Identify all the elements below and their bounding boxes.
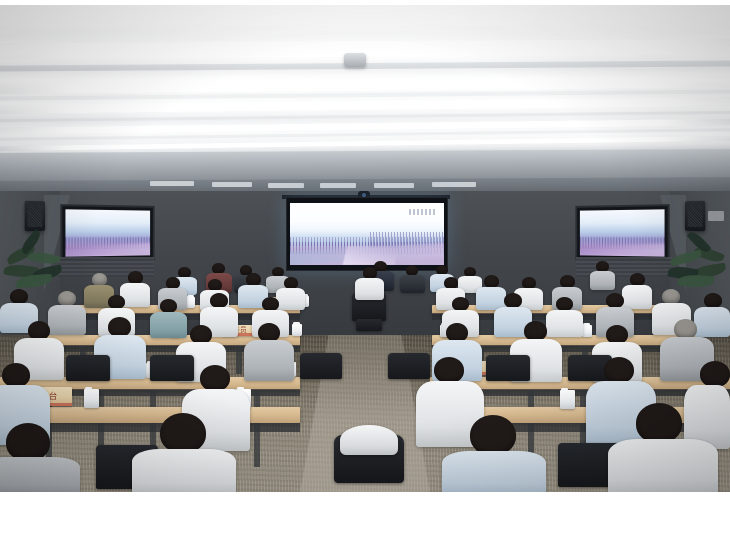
attendee-head xyxy=(108,317,131,337)
chair-cushion xyxy=(340,425,398,455)
right-display-content xyxy=(580,209,665,256)
attendee-head xyxy=(58,291,76,306)
chair xyxy=(300,353,342,379)
attendee-head xyxy=(604,357,634,383)
conference-room-photo: 委员 xyxy=(0,5,730,492)
ceiling-slot xyxy=(320,183,356,188)
attendee-head xyxy=(10,289,28,304)
attendee-body xyxy=(0,457,80,492)
right-potted-plant xyxy=(662,223,728,289)
chair xyxy=(66,355,110,381)
attendee-head xyxy=(108,295,125,309)
ceiling-slot xyxy=(374,183,414,188)
attendee-body xyxy=(132,449,236,492)
attendee-head xyxy=(700,361,730,387)
tea-cup xyxy=(186,297,195,308)
attendee-body xyxy=(276,288,305,310)
attendee-head xyxy=(200,365,230,391)
left-display-content xyxy=(65,209,150,256)
tea-cup xyxy=(292,324,302,336)
left-potted-plant xyxy=(2,223,68,289)
attendee-head xyxy=(210,293,228,308)
ceiling-slot xyxy=(150,181,194,186)
tea-cup xyxy=(84,389,99,408)
ceiling-slot xyxy=(268,183,304,188)
attendee-body xyxy=(442,451,546,492)
right-led-display[interactable] xyxy=(575,204,669,262)
attendee-head xyxy=(636,403,682,443)
attendee-body xyxy=(590,271,615,290)
presenter-chair-base xyxy=(356,319,382,331)
attendee-head xyxy=(6,423,50,461)
attendee-head xyxy=(606,293,624,308)
chair xyxy=(486,355,530,381)
attendee-body xyxy=(694,307,730,337)
attendee-body xyxy=(622,285,652,309)
attendee-head xyxy=(662,289,680,304)
screen-logo xyxy=(409,209,437,215)
attendee-head xyxy=(160,413,206,453)
attendee-head xyxy=(262,297,279,311)
attendee-head xyxy=(452,297,469,311)
attendee-body xyxy=(48,305,86,335)
attendee-body xyxy=(400,275,425,293)
screenshot-root: 委员 xyxy=(0,0,730,548)
attendee-head xyxy=(434,357,464,383)
attendee-head xyxy=(470,415,516,455)
attendee-body xyxy=(150,312,187,338)
attendee-body xyxy=(546,310,583,337)
attendee-head xyxy=(704,293,722,308)
attendee-body xyxy=(244,340,294,381)
attendee-head xyxy=(504,293,522,308)
main-display-content xyxy=(290,203,444,265)
chair xyxy=(150,355,194,381)
attendee-head xyxy=(674,319,697,339)
tea-cup xyxy=(582,325,592,337)
wall-sign xyxy=(708,211,724,221)
ceiling-slot xyxy=(212,182,252,187)
ceiling-slot xyxy=(432,182,476,187)
tea-cup xyxy=(560,390,575,409)
attendee-body xyxy=(608,439,718,492)
attendee-head xyxy=(556,297,573,311)
presenter-body xyxy=(355,278,384,300)
smoke-detector-icon xyxy=(344,53,366,67)
road-band xyxy=(343,246,400,265)
left-led-display[interactable] xyxy=(60,204,154,262)
chair xyxy=(388,353,430,379)
attendee-head xyxy=(2,363,30,387)
main-led-wall[interactable] xyxy=(286,197,448,271)
attendee-head xyxy=(524,321,547,341)
attendee-head xyxy=(160,299,177,313)
